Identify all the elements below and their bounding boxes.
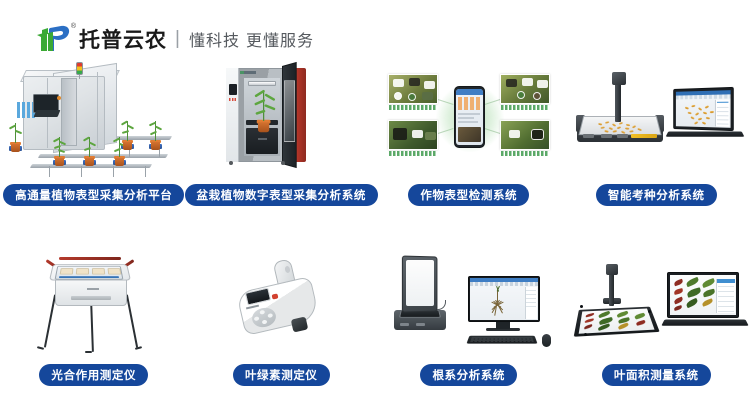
product-label[interactable]: 光合作用测定仪 [39,364,148,386]
product-row-1: 高通量植物表型采集分析平台 [0,62,750,206]
product-card-high-throughput-plant-phenotype-platform[interactable]: 高通量植物表型采集分析平台 [0,62,188,206]
product-card-intelligent-seed-testing-analysis-system[interactable]: 智能考种分析系统 [563,62,750,206]
product-image-potted-phenotype-cabinet [196,62,366,180]
product-label[interactable]: 叶绿素测定仪 [233,364,330,386]
product-card-root-analysis-system[interactable]: 根系分析系统 [375,248,563,386]
product-label[interactable]: 高通量植物表型采集分析平台 [3,184,184,206]
product-image-phenotype-platform [9,62,179,180]
product-card-crop-phenotype-detection-system[interactable]: 作物表型检测系统 [375,62,563,206]
product-label[interactable]: 盆栽植物数字表型采集分析系统 [185,184,378,206]
brand-header: ® 托普云农 | 懂科技 更懂服务 [34,22,314,56]
product-image-root-analysis [384,248,554,360]
camera-head-icon [612,72,626,85]
registered-mark: ® [71,23,76,30]
laptop-icon [667,272,739,318]
product-image-seed-analysis [571,62,741,180]
product-label[interactable]: 作物表型检测系统 [408,184,529,206]
tp-logo-icon: ® [34,24,74,54]
product-image-photosynthesis-meter [9,248,179,360]
product-card-chlorophyll-meter[interactable]: 叶绿素测定仪 [188,248,376,386]
product-card-photosynthesis-measuring-instrument[interactable]: 光合作用测定仪 [0,248,188,386]
mouse-icon [542,334,551,347]
product-image-chlorophyll-meter [196,248,366,360]
product-label[interactable]: 叶面积测量系统 [602,364,711,386]
product-image-leaf-area-measurement [571,248,741,360]
brand-slogan: 懂科技 更懂服务 [189,27,314,51]
brand-separator: | [175,28,180,50]
product-card-leaf-area-measurement-system[interactable]: 叶面积测量系统 [563,248,750,386]
laptop-icon [673,87,734,131]
product-image-crop-phenotype-detection [384,62,554,180]
camera-head-icon [606,264,618,275]
product-card-potted-plant-digital-phenotype-system[interactable]: 盆栽植物数字表型采集分析系统 [188,62,376,206]
brand-name: 托普云农 [79,24,167,54]
product-label[interactable]: 根系分析系统 [420,364,517,386]
product-grid: 高通量植物表型采集分析平台 [0,62,750,386]
product-row-2: 光合作用测定仪 叶绿素测定仪 [0,248,750,386]
product-label[interactable]: 智能考种分析系统 [596,184,717,206]
